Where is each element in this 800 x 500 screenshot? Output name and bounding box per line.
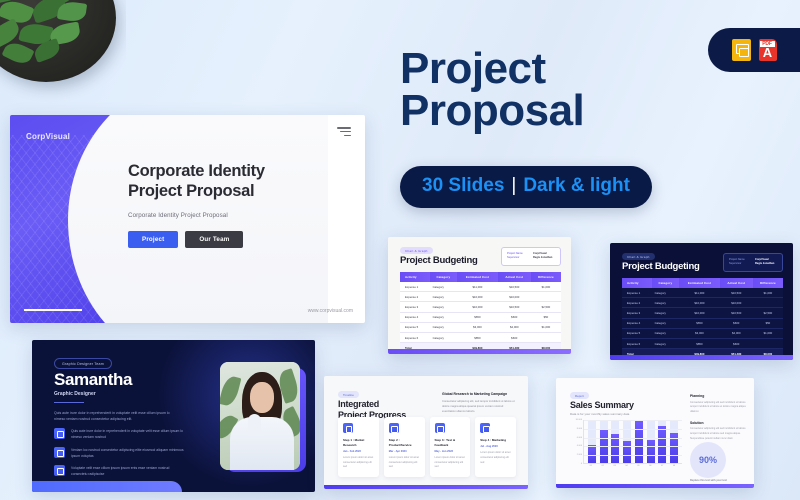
hero-title: Project Proposal xyxy=(400,48,730,132)
step-card[interactable]: Step 4 : Marketing Jul - Aug 2023 Lorem … xyxy=(475,417,516,477)
table-row: Expense 3Category$10,000$10,500$2,500 xyxy=(400,302,561,312)
slide-preview-progress[interactable]: Timeline Integrated Project Progress Glo… xyxy=(324,376,528,489)
table-row: Expense 3Category$10,000$10,500$2,500 xyxy=(622,308,783,318)
chart-x-axis: 0102030405060708 xyxy=(583,465,682,467)
bottom-accent-strip xyxy=(610,355,793,360)
bottom-accent-strip xyxy=(388,349,571,354)
hero-title-line2: Proposal xyxy=(400,86,584,135)
grid-line xyxy=(584,455,682,456)
budget-table: Activity Category Estimated Cost Actual … xyxy=(622,278,783,359)
step-card[interactable]: Step 1 : Market Research Jan - Feb 2023 … xyxy=(338,417,379,477)
x-tick-label: 04 xyxy=(623,465,631,467)
x-tick-label: 06 xyxy=(646,465,654,467)
block-heading: Solution xyxy=(690,421,746,425)
progress-description: Global Research to Marketing Campaign Co… xyxy=(442,392,516,414)
block-body: Consectetur adipiscing elit sed incididu… xyxy=(690,427,746,441)
grid-line xyxy=(584,429,682,430)
block-heading: Planning xyxy=(690,394,746,398)
step-label: Step 1 : Market Research xyxy=(343,438,374,447)
slides-count-label: 30 Slides xyxy=(422,175,504,197)
slide-heading-line1: Corporate Identity xyxy=(128,162,265,180)
y-tick-label: 2 000 xyxy=(577,454,582,456)
y-tick-label: 0 xyxy=(581,463,582,465)
step-body: Lorem ipsum dolor sit amet consectetur a… xyxy=(480,451,511,465)
chart-bar-column xyxy=(623,420,631,463)
table-row: Expense 5Category$3,000$4,000$1,000 xyxy=(622,328,783,338)
check-square-icon xyxy=(54,428,65,439)
chart-bar-column xyxy=(600,420,608,463)
slide-preview-title[interactable]: CorpVisual Corporate Identity Project Pr… xyxy=(10,115,365,323)
grid-line xyxy=(584,420,682,421)
team-paragraph: Quis aute irure dolor in reprehenderit i… xyxy=(54,410,179,423)
info-value: Regis Jonathan xyxy=(533,256,552,260)
badge-separator: | xyxy=(511,175,516,197)
sales-subtitle: Data is for your monthly sales summary d… xyxy=(570,412,629,416)
decorative-line xyxy=(24,309,82,311)
check-square-icon xyxy=(54,465,65,476)
column-header: Estimated Cost xyxy=(679,278,720,288)
slide-preview-budget-dark[interactable]: Chart & Graph Project Budgeting Project … xyxy=(610,243,793,360)
pdf-icon xyxy=(759,39,777,61)
x-tick-label: 03 xyxy=(611,465,619,467)
table-row: Expense 1Category$11,000$10,500$1,000 xyxy=(622,288,783,298)
progress-tag: Timeline xyxy=(338,391,359,398)
project-button[interactable]: Project xyxy=(128,231,178,248)
step-card[interactable]: Step 2 : Product/Service Mar - Apr 2023 … xyxy=(384,417,425,477)
table-row: Expense 4Category$650$600$50 xyxy=(622,318,783,328)
our-team-button[interactable]: Our Team xyxy=(185,231,243,248)
slide-preview-team[interactable]: Graphic Designer Team Samantha Graphic D… xyxy=(32,340,315,492)
table-header-row: Activity Category Estimated Cost Actual … xyxy=(400,272,561,282)
table-row: Expense 6Category$850$600 xyxy=(622,338,783,348)
chart-bar-column xyxy=(647,420,655,463)
check-square-icon xyxy=(54,447,65,458)
slides-count-badge: 30 Slides | Dark & light xyxy=(400,166,652,208)
progress-step-cards: Step 1 : Market Research Jan - Feb 2023 … xyxy=(338,417,516,477)
column-header: Activity xyxy=(622,278,652,288)
block-body: Consectetur adipiscing elit sed incididu… xyxy=(690,401,746,415)
step-date: May - Jun 2023 xyxy=(435,450,466,453)
list-item: Quis aute irure dolor in reprehenderit i… xyxy=(54,428,184,441)
sales-tag: Report xyxy=(570,392,589,399)
bottom-accent-strip xyxy=(32,481,182,492)
percentage-note: Replace this text with your text xyxy=(690,479,746,483)
team-tag: Graphic Designer Team xyxy=(54,358,112,369)
column-header: Difference xyxy=(753,278,783,288)
step-label: Step 4 : Marketing xyxy=(480,438,511,443)
slide-website-url: www.corpvisual.com xyxy=(308,308,353,314)
team-member-role: Graphic Designer xyxy=(54,391,96,397)
x-tick-label: 08 xyxy=(670,465,678,467)
hamburger-menu-icon[interactable] xyxy=(337,127,351,138)
step-date: Mar - Apr 2023 xyxy=(389,450,420,453)
table-row: Expense 5Category$3,000$4,000$1,000 xyxy=(400,322,561,332)
google-slides-icon xyxy=(732,39,751,61)
decorative-plant-photo xyxy=(0,0,126,105)
table-row: Expense 2Category$10,000$10,000 xyxy=(622,298,783,308)
column-header: Actual Cost xyxy=(498,272,531,282)
chart-plot-area xyxy=(583,420,682,464)
chart-bar xyxy=(588,445,596,463)
grid-line xyxy=(584,438,682,439)
team-feature-list: Quis aute irure dolor in reprehenderit i… xyxy=(54,428,184,484)
bottom-accent-strip xyxy=(556,484,754,488)
budget-title: Project Budgeting xyxy=(400,255,478,266)
bottom-accent-strip xyxy=(324,485,528,489)
budget-tag: Chart & Graph xyxy=(400,247,433,254)
column-header: Difference xyxy=(531,272,561,282)
project-info-box: Project NameCorpVisual SupervisorRegis J… xyxy=(723,253,783,272)
sales-text-blocks: Planning Consectetur adipiscing elit sed… xyxy=(690,394,746,448)
percentage-badge: 90% xyxy=(690,442,726,478)
step-body: Lorem ipsum dolor sit amet consectetur a… xyxy=(343,456,374,470)
y-tick-label: 10 000 xyxy=(576,419,582,421)
slide-preview-budget-light[interactable]: Chart & Graph Project Budgeting Project … xyxy=(388,237,571,354)
slide-subtitle: Corporate Identity Project Proposal xyxy=(128,212,353,219)
grid-line xyxy=(584,446,682,447)
slide-preview-sales[interactable]: Report Sales Summary Data is for your mo… xyxy=(556,378,754,488)
y-tick-label: 4 000 xyxy=(577,445,582,447)
list-item: Veniam loc nostrud consectetur adipiscin… xyxy=(54,447,184,460)
project-info-box: Project NameCorpVisual SupervisorRegis J… xyxy=(501,247,561,266)
chart-bar-column xyxy=(670,420,678,463)
list-item-text: Veniam loc nostrud consectetur adipiscin… xyxy=(71,447,184,460)
chart-bar xyxy=(635,421,643,463)
list-item-text: Quis aute irure dolor in reprehenderit i… xyxy=(71,428,184,441)
budget-title: Project Budgeting xyxy=(622,261,700,272)
step-date: Jul - Aug 2023 xyxy=(480,445,511,448)
y-tick-label: 8 000 xyxy=(577,428,582,430)
chart-bar xyxy=(623,441,631,463)
chart-bar-column xyxy=(611,420,619,463)
slide-logo: CorpVisual xyxy=(26,132,70,141)
info-key: Supervisor xyxy=(729,262,751,266)
chart-square-icon xyxy=(343,423,353,433)
chart-bar-column xyxy=(658,420,666,463)
budget-table: Activity Category Estimated Cost Actual … xyxy=(400,272,561,353)
chart-bar xyxy=(647,440,655,463)
table-row: Expense 2Category$10,000$10,000 xyxy=(400,292,561,302)
table-row: Expense 1Category$11,000$10,500$1,000 xyxy=(400,282,561,292)
slide-heading-line2: Project Proposal xyxy=(128,182,254,200)
table-header-row: Activity Category Estimated Cost Actual … xyxy=(622,278,783,288)
description-heading: Global Research to Marketing Campaign xyxy=(442,392,516,396)
table-row: Expense 4Category$650$600$50 xyxy=(400,312,561,322)
chart-bar-column xyxy=(635,420,643,463)
list-item: Voluptate velit esse cillum ipsum ipsum … xyxy=(54,465,184,478)
column-header: Activity xyxy=(400,272,430,282)
step-body: Lorem ipsum dolor sit amet consectetur a… xyxy=(389,456,420,470)
budget-tag: Chart & Graph xyxy=(622,253,655,260)
info-key: Supervisor xyxy=(507,256,529,260)
theme-variants-label: Dark & light xyxy=(523,175,630,197)
team-member-name: Samantha xyxy=(54,370,132,390)
column-header: Actual Cost xyxy=(720,278,753,288)
step-body: Lorem ipsum dolor sit amet consectetur a… xyxy=(435,456,466,470)
column-header: Category xyxy=(430,272,458,282)
chart-y-axis: 10 0008 0006 0004 0002 0000 xyxy=(570,420,582,464)
chart-square-icon xyxy=(389,423,399,433)
x-tick-label: 05 xyxy=(634,465,642,467)
sales-bar-chart: 10 0008 0006 0004 0002 0000 010203040506… xyxy=(570,420,682,472)
progress-title-line1: Integrated xyxy=(338,399,379,409)
step-label: Step 3 : Test & Feedback xyxy=(435,438,466,447)
list-item-text: Voluptate velit esse cillum ipsum ipsum … xyxy=(71,465,184,478)
y-tick-label: 6 000 xyxy=(577,437,582,439)
team-member-photo xyxy=(220,362,300,470)
column-header: Estimated Cost xyxy=(457,272,498,282)
file-format-badge xyxy=(708,28,800,72)
step-card[interactable]: Step 3 : Test & Feedback May - Jun 2023 … xyxy=(430,417,471,477)
x-tick-label: 02 xyxy=(599,465,607,467)
info-value: Regis Jonathan xyxy=(755,262,774,266)
table-row: Expense 6Category$850$600 xyxy=(400,332,561,342)
chart-square-icon xyxy=(435,423,445,433)
step-date: Jan - Feb 2023 xyxy=(343,450,374,453)
chart-bar xyxy=(658,426,666,463)
step-label: Step 2 : Product/Service xyxy=(389,438,420,447)
chart-bar-column xyxy=(588,420,596,463)
divider xyxy=(54,402,84,403)
x-tick-label: 07 xyxy=(658,465,666,467)
chart-bar xyxy=(611,434,619,463)
sales-title: Sales Summary xyxy=(570,400,634,410)
chart-bars xyxy=(584,420,682,463)
column-header: Category xyxy=(652,278,680,288)
description-body: Consectetur adipiscing elit, sed tempor … xyxy=(442,399,516,414)
title-slide-body: Corporate Identity Project Proposal Corp… xyxy=(128,161,353,248)
chart-square-icon xyxy=(480,423,490,433)
x-tick-label: 01 xyxy=(587,465,595,467)
